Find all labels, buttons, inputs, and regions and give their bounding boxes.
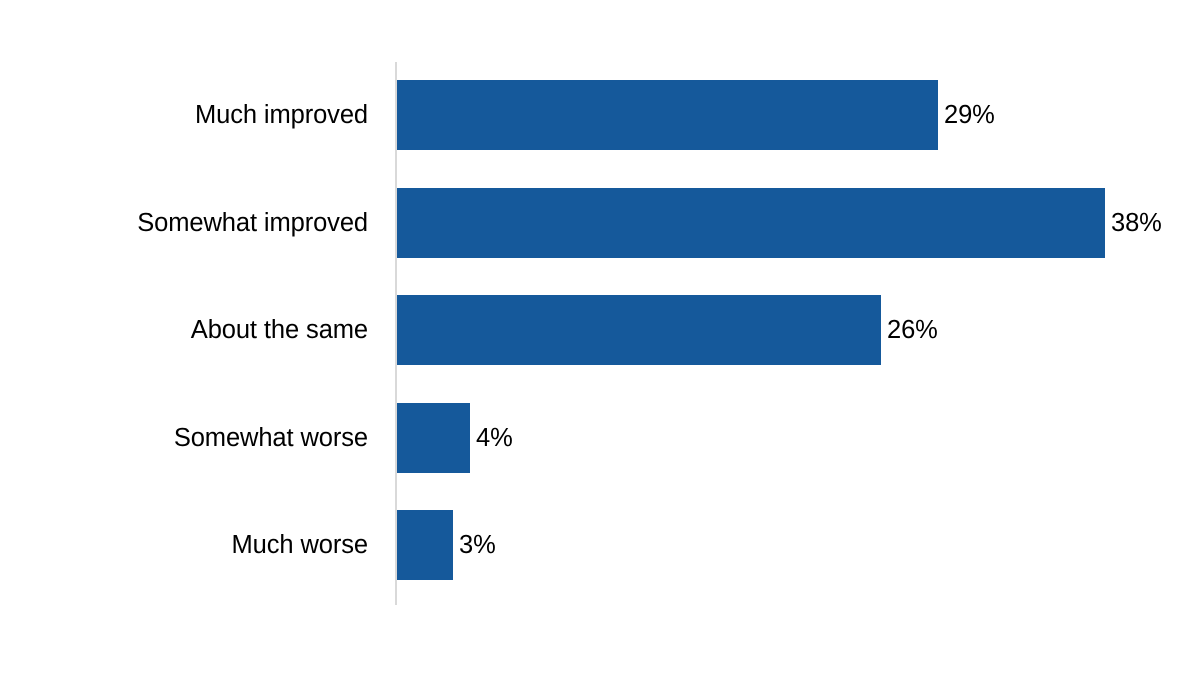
bar-much-improved[interactable] xyxy=(397,80,938,150)
bar-much-worse[interactable] xyxy=(397,510,453,580)
value-label-about-the-same: 26% xyxy=(887,295,938,365)
bar-row: Much improved 29% xyxy=(0,80,1200,150)
plot-area: Much improved 29% Somewhat improved 38% … xyxy=(0,0,1200,675)
category-label-about-the-same: About the same xyxy=(191,295,368,365)
bar-somewhat-worse[interactable] xyxy=(397,403,470,473)
value-label-somewhat-worse: 4% xyxy=(476,403,513,473)
bar-row: About the same 26% xyxy=(0,295,1200,365)
category-label-much-improved: Much improved xyxy=(195,80,368,150)
bar-chart: Much improved 29% Somewhat improved 38% … xyxy=(0,0,1200,675)
bar-somewhat-improved[interactable] xyxy=(397,188,1105,258)
value-label-much-worse: 3% xyxy=(459,510,496,580)
bar-row: Somewhat worse 4% xyxy=(0,403,1200,473)
bar-about-the-same[interactable] xyxy=(397,295,881,365)
category-label-somewhat-improved: Somewhat improved xyxy=(137,188,368,258)
category-label-much-worse: Much worse xyxy=(232,510,368,580)
category-label-somewhat-worse: Somewhat worse xyxy=(174,403,368,473)
value-label-much-improved: 29% xyxy=(944,80,995,150)
bar-row: Somewhat improved 38% xyxy=(0,188,1200,258)
bar-row: Much worse 3% xyxy=(0,510,1200,580)
value-label-somewhat-improved: 38% xyxy=(1111,188,1162,258)
